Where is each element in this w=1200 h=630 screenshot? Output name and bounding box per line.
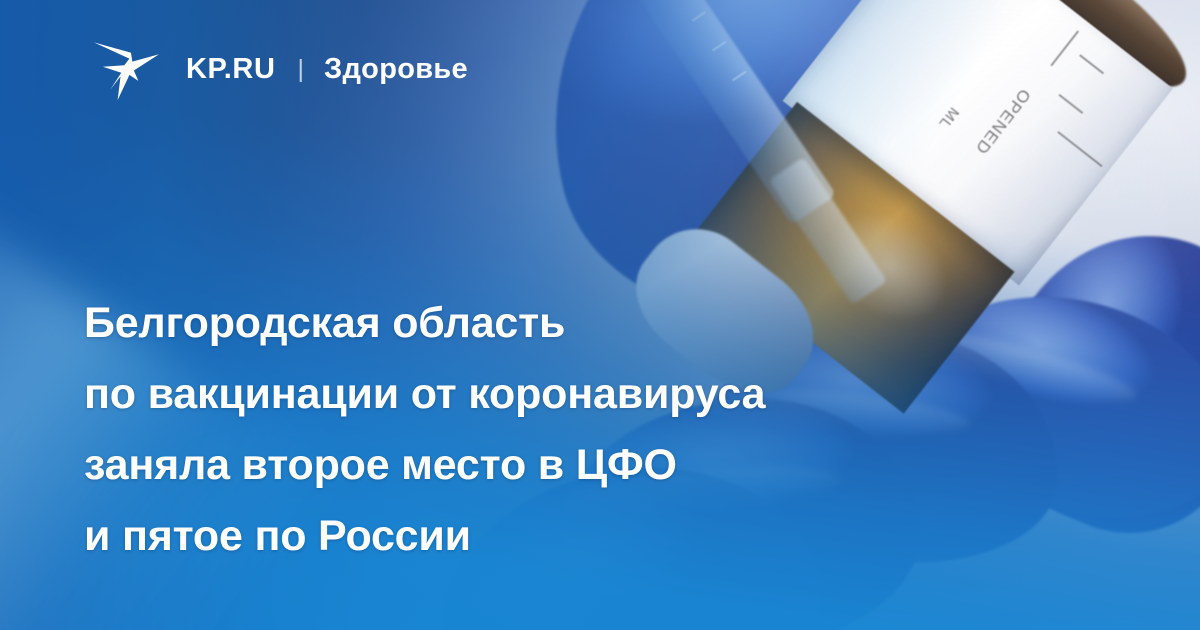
social-share-card: OPENED ML KP: [0, 0, 1200, 630]
brand-bar[interactable]: KP.RU | Здоровье: [88, 32, 468, 106]
card-content: KP.RU | Здоровье Белгородская область по…: [0, 0, 1200, 630]
headline-line: и пятое по России: [84, 501, 1094, 572]
headline-line: заняла второе место в ЦФО: [84, 430, 1094, 501]
brand-wordmark: KP.RU: [186, 55, 276, 84]
brand-separator: |: [298, 57, 305, 82]
brand-section-label[interactable]: Здоровье: [324, 55, 468, 84]
headline-line: Белгородская область: [84, 288, 1094, 359]
headline[interactable]: Белгородская область по вакцинации от ко…: [84, 288, 1094, 572]
swallow-bird-icon: [88, 32, 162, 106]
headline-line: по вакцинации от коронавируса: [84, 359, 1094, 430]
